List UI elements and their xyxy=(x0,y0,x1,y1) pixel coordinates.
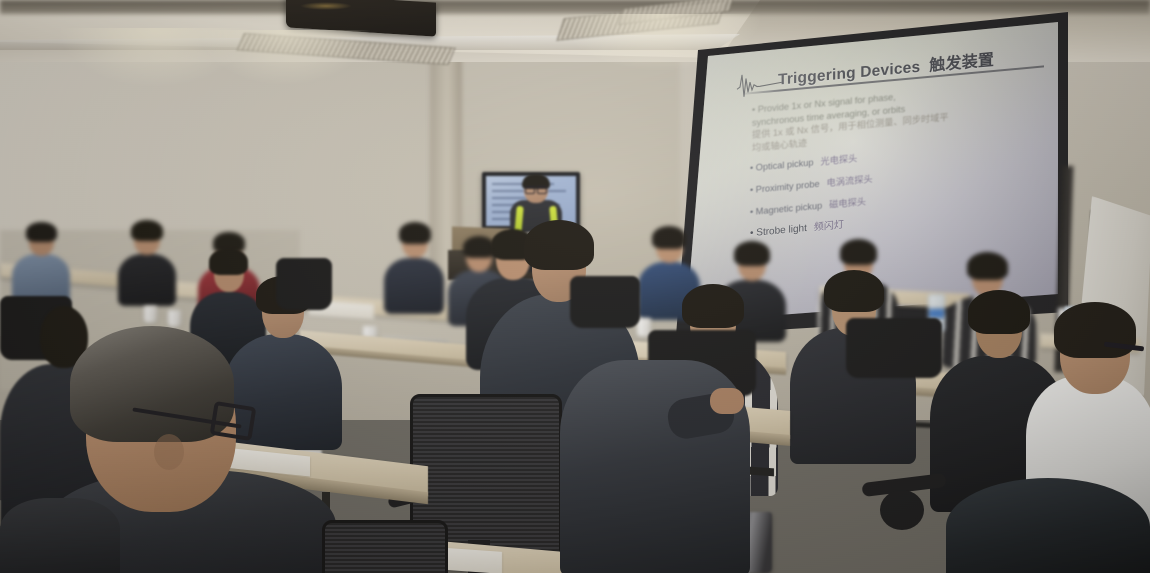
ceiling-light-wash xyxy=(200,30,370,84)
attendee-foreground xyxy=(946,466,1150,573)
ceiling-shadow-strip xyxy=(0,0,1150,14)
attendee-hair xyxy=(399,222,431,244)
chair[interactable] xyxy=(276,258,332,310)
attendee xyxy=(384,224,444,304)
attendee-hair xyxy=(1054,302,1136,358)
office-chair[interactable] xyxy=(322,520,448,573)
paper-cup xyxy=(144,306,157,323)
attendee xyxy=(12,222,70,298)
classroom-scene: Triggering Devices触发装置 • Provide 1x or N… xyxy=(0,0,1150,573)
attendee-hair xyxy=(131,220,163,241)
attendee-torso xyxy=(946,478,1150,573)
attendee-hair xyxy=(26,222,57,242)
attendee-hair xyxy=(682,284,744,328)
attendee xyxy=(118,222,176,298)
paper-cup xyxy=(168,310,181,327)
attendee-hair xyxy=(840,239,877,265)
attendee-torso xyxy=(118,254,176,306)
attendee-hair xyxy=(968,290,1030,334)
attendee-hair xyxy=(824,270,884,312)
attendee-hair xyxy=(209,248,248,275)
glasses-icon xyxy=(525,186,547,192)
attendee-torso xyxy=(384,258,444,314)
attendee-hair xyxy=(524,220,594,270)
attendee-foreground xyxy=(560,324,750,573)
glasses-lens xyxy=(210,401,257,441)
projector-lamp-glow xyxy=(300,2,352,10)
attendee-hair xyxy=(652,226,686,249)
attendee-hair xyxy=(967,252,1008,280)
attendee-hair xyxy=(70,326,234,442)
chair[interactable] xyxy=(570,276,640,328)
chair[interactable] xyxy=(846,318,942,378)
attendee-foreground xyxy=(0,498,120,573)
chair-caster xyxy=(880,490,924,530)
attendee-torso xyxy=(0,498,120,573)
attendee-hair xyxy=(734,241,770,266)
ear xyxy=(154,434,184,470)
attendee-hand xyxy=(710,388,744,414)
